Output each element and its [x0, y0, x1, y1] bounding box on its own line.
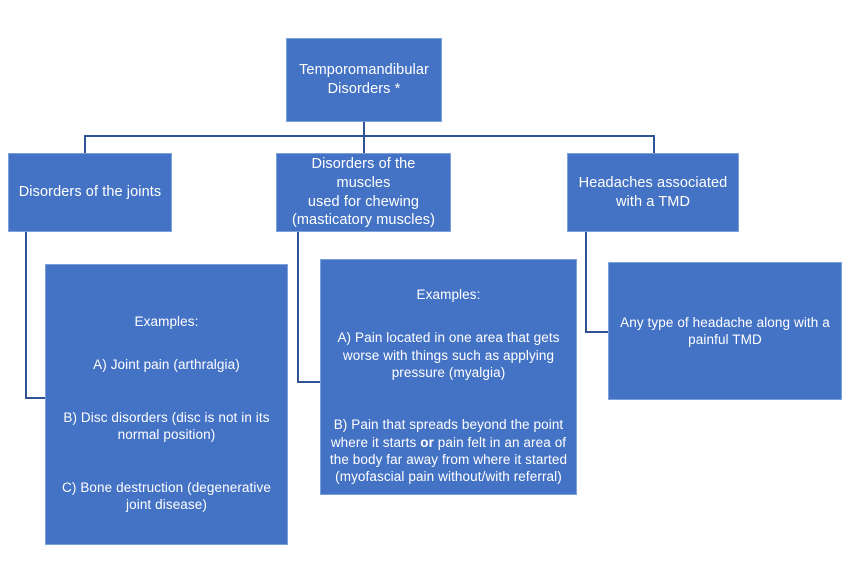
node-headaches-associated-with-tmd: Headaches associated with a TMD	[567, 153, 739, 232]
node-joints-examples: Examples: A) Joint pain (arthralgia) B) …	[45, 264, 288, 545]
connector-bus-to-joints	[84, 135, 86, 154]
node-disorders-of-the-muscles-label: Disorders of the muscles used for chewin…	[277, 155, 450, 229]
muscles-example-item-b-emphasis: or	[420, 435, 434, 450]
muscles-examples-heading: Examples:	[417, 287, 481, 302]
muscles-example-item-b: B) Pain that spreads beyond the point wh…	[330, 417, 567, 484]
connector-joints-to-examples-elbow	[25, 397, 47, 399]
node-headaches-associated-with-tmd-label: Headaches associated with a TMD	[568, 174, 738, 211]
node-headaches-examples: Any type of headache along with a painfu…	[608, 262, 842, 400]
node-disorders-of-the-muscles: Disorders of the muscles used for chewin…	[276, 153, 451, 232]
connector-bus-to-muscles	[363, 135, 365, 154]
diagram-canvas: Temporomandibular Disorders * Disorders …	[0, 0, 850, 582]
connector-muscles-to-examples-vertical	[297, 232, 299, 383]
connector-joints-to-examples-vertical	[25, 232, 27, 399]
muscles-example-item-a: A) Pain located in one area that gets wo…	[337, 330, 559, 380]
connector-headaches-to-examples-vertical	[585, 232, 587, 333]
connector-headaches-to-examples-elbow	[585, 331, 610, 333]
joints-example-item-b: B) Disc disorders (disc is not in its no…	[63, 410, 269, 442]
connector-horizontal-bus	[84, 135, 655, 137]
muscles-examples-body: Examples: A) Pain located in one area th…	[321, 269, 576, 486]
node-muscles-examples: Examples: A) Pain located in one area th…	[320, 259, 577, 495]
node-disorders-of-the-joints: Disorders of the joints	[8, 153, 172, 232]
node-temporomandibular-disorders: Temporomandibular Disorders *	[286, 38, 442, 122]
headaches-examples-text: Any type of headache along with a painfu…	[609, 314, 841, 349]
joints-example-item-c: C) Bone destruction (degenerative joint …	[62, 480, 271, 512]
connector-bus-to-headaches	[653, 135, 655, 154]
joints-examples-body: Examples: A) Joint pain (arthralgia) B) …	[46, 296, 287, 514]
connector-muscles-to-examples-elbow	[297, 381, 322, 383]
joints-example-item-a: A) Joint pain (arthralgia)	[93, 357, 240, 372]
node-disorders-of-the-joints-label: Disorders of the joints	[9, 183, 171, 202]
joints-examples-heading: Examples:	[135, 314, 199, 329]
node-temporomandibular-disorders-label: Temporomandibular Disorders *	[287, 61, 441, 98]
